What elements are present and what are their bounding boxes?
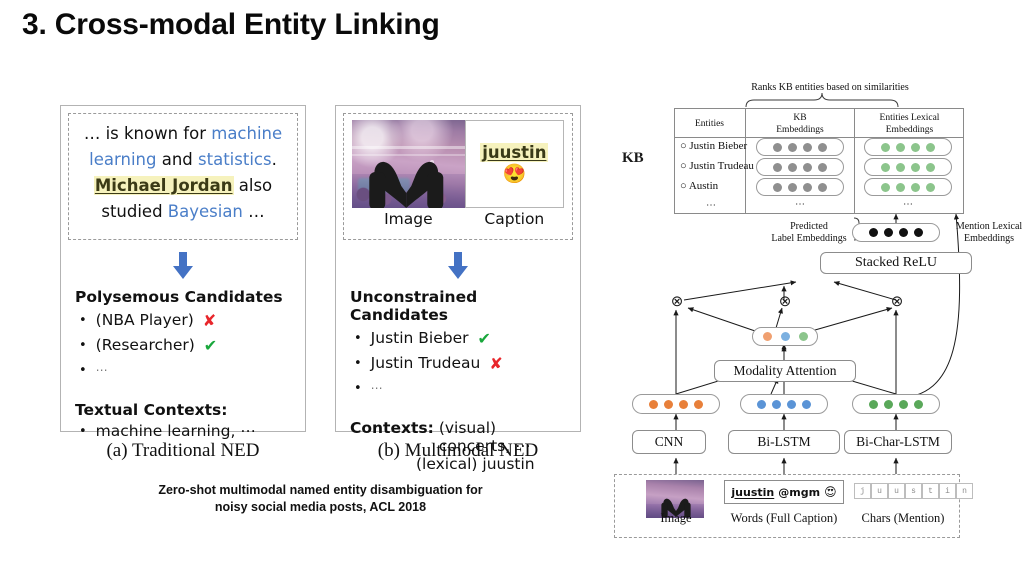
list-item: •Justin Bieber✔ [354, 326, 570, 351]
bi-char-lstm-node: Bi-Char-LSTM [844, 430, 952, 454]
entity-statistics: statistics [198, 150, 272, 169]
candidate-list-a: •(NBA Player)✘ •(Researcher)✔ •⋯ [79, 308, 295, 383]
contexts-heading-a: Textual Contexts: [75, 401, 295, 419]
sentence-line-2: learning and statistics. [75, 147, 291, 173]
char-cell: u [888, 483, 905, 499]
candidates-block-a: Polysemous Candidates •(NBA Player)✘ •(R… [75, 288, 295, 444]
bullet-icon: • [79, 339, 87, 352]
multiply-node-word: ⊗ [774, 290, 796, 312]
candidate-label: (NBA Player) [96, 308, 194, 333]
media-context-box: juustin 😍 Image Caption [343, 113, 573, 240]
column-header-entities-lexical-embeddings: Entities Lexical Embeddings [855, 112, 964, 136]
heart-eyes-emoji-icon: 😍 [824, 485, 837, 499]
bullet-icon: • [79, 314, 87, 327]
contexts-heading-b: Contexts: [350, 419, 434, 437]
kb-entity-row-1: ○ Justin Trudeau [680, 160, 754, 172]
circle-bullet-icon: ○ [680, 180, 687, 192]
citation-block: Zero-shot multimodal named entity disamb… [60, 482, 581, 516]
char-cells: j u u s t i n [854, 483, 973, 499]
bullet-icon: • [354, 382, 362, 395]
char-cell: t [922, 483, 939, 499]
candidate-label: Justin Trudeau [371, 351, 481, 376]
char-cell: j [854, 483, 871, 499]
caption-card: juustin 😍 [465, 120, 564, 208]
lexical-embedding-pill-1 [864, 158, 952, 176]
char-embedding-pill [852, 394, 940, 414]
check-icon: ✔ [478, 326, 491, 351]
entity-learning: learning [89, 150, 156, 169]
kb-embedding-ellipsis: ⋯ [756, 199, 844, 211]
multiply-node-visual: ⊗ [666, 290, 688, 312]
circle-bullet-icon: ○ [680, 140, 687, 152]
bullet-icon: • [354, 332, 362, 345]
char-cell: s [905, 483, 922, 499]
mini-caption-token: juustin [731, 486, 774, 499]
list-item: •Justin Trudeau✘ [354, 351, 570, 376]
candidates-heading-b: Unconstrained Candidates [350, 288, 570, 324]
bullet-icon: • [79, 364, 87, 377]
char-cell: u [871, 483, 888, 499]
sentence-studied: studied [101, 202, 167, 221]
panel-multimodal-ned: juustin 😍 Image Caption Unconstrained Ca… [335, 105, 581, 432]
predicted-label-embeddings-label: Predicted Label Embeddings [766, 221, 852, 245]
sentence-context-box: … is known for machine learning and stat… [68, 113, 298, 240]
heart-eyes-emoji-icon: 😍 [502, 164, 526, 186]
kb-label: KB [622, 150, 644, 167]
char-cell: i [939, 483, 956, 499]
mini-caption-input: juustin @mgm 😍 [724, 480, 844, 504]
char-cell: n [956, 483, 973, 499]
bi-lstm-node: Bi-LSTM [728, 430, 840, 454]
input-label-chars: Chars (Mention) [850, 512, 956, 524]
subcaption-a: (a) Traditional NED [60, 440, 306, 462]
entity-machine: machine [211, 124, 282, 143]
check-icon: ✔ [204, 333, 217, 358]
column-header-entities: Entities [674, 118, 745, 130]
mini-caption-handle: @mgm [778, 486, 820, 499]
candidate-label: Justin Bieber [371, 326, 469, 351]
attention-weights-pill [752, 327, 818, 346]
mention-lexical-embeddings-label: Mention Lexical Embeddings [944, 221, 1024, 245]
citation-line-1: Zero-shot multimodal named entity disamb… [60, 482, 581, 499]
list-item: •⋯ [354, 376, 570, 401]
caption-label: Caption [465, 210, 564, 228]
down-arrow-icon [445, 252, 471, 285]
kb-entity-row-2: ○ Austin [680, 180, 718, 192]
subcaption-b: (b) Multimodal NED [335, 440, 581, 462]
sentence-line-4: studied Bayesian … [75, 199, 291, 225]
sentence-and: and [156, 150, 198, 169]
citation-line-2: noisy social media posts, ACL 2018 [60, 499, 581, 516]
media-labels: Image Caption [350, 208, 566, 228]
kb-embedding-pill-1 [756, 158, 844, 176]
circle-bullet-icon: ○ [680, 160, 687, 172]
panel-traditional-ned: … is known for machine learning and stat… [60, 105, 306, 432]
concert-photo [352, 120, 465, 208]
bullet-icon: • [79, 425, 87, 438]
kb-entity-ellipsis: ⋯ [680, 200, 742, 212]
sentence-text-plain: … is known for [84, 124, 211, 143]
column-header-kb-embeddings: KB Embeddings [746, 112, 854, 136]
input-label-image: Image [634, 512, 718, 524]
mention-michael-jordan: Michael Jordan [94, 176, 234, 195]
heart-hands-silhouette [364, 156, 450, 208]
sentence-period: . [272, 150, 277, 169]
kb-embedding-pill-0 [756, 138, 844, 156]
cnn-node: CNN [632, 430, 706, 454]
predicted-label-embedding-pill [852, 223, 940, 242]
lexical-embedding-pill-2 [864, 178, 952, 196]
sentence-line-3: Michael Jordan also [75, 173, 291, 199]
sentence-line-1: … is known for machine [75, 121, 291, 147]
input-label-words: Words (Full Caption) [718, 512, 850, 524]
brace-caption: Ranks KB entities based on similarities [710, 82, 950, 94]
image-label: Image [352, 210, 465, 228]
sentence-tail: … [243, 202, 265, 221]
candidate-label: ⋯ [96, 358, 109, 383]
list-item: •⋯ [79, 358, 295, 383]
candidate-label: ⋯ [371, 376, 384, 401]
cross-icon: ✘ [203, 308, 216, 333]
cross-icon: ✘ [489, 351, 502, 376]
list-item: •(NBA Player)✘ [79, 308, 295, 333]
list-item: •(Researcher)✔ [79, 333, 295, 358]
candidates-heading-a: Polysemous Candidates [75, 288, 295, 306]
modality-attention-node: Modality Attention [714, 360, 856, 382]
multiply-node-char: ⊗ [886, 290, 908, 312]
down-arrow-icon [170, 252, 196, 285]
kb-entity-row-0: ○ Justin Bieber [680, 140, 747, 152]
candidate-label: (Researcher) [96, 333, 195, 358]
word-embedding-pill [740, 394, 828, 414]
kb-embedding-pill-2 [756, 178, 844, 196]
bullet-icon: • [354, 357, 362, 370]
lexical-embedding-pill-0 [864, 138, 952, 156]
candidate-list-b: •Justin Bieber✔ •Justin Trudeau✘ •⋯ [354, 326, 570, 401]
visual-embedding-pill [632, 394, 720, 414]
lexical-embedding-ellipsis: ⋯ [864, 199, 952, 211]
stacked-relu-node: Stacked ReLU [820, 252, 972, 274]
entity-bayesian: Bayesian [168, 202, 243, 221]
media-row: juustin 😍 [350, 120, 566, 208]
page-title: 3. Cross-modal Entity Linking [22, 8, 440, 42]
sentence-also: also [234, 176, 273, 195]
caption-mention-token: juustin [480, 143, 548, 162]
architecture-figure: Ranks KB entities based on similarities … [606, 82, 1018, 550]
